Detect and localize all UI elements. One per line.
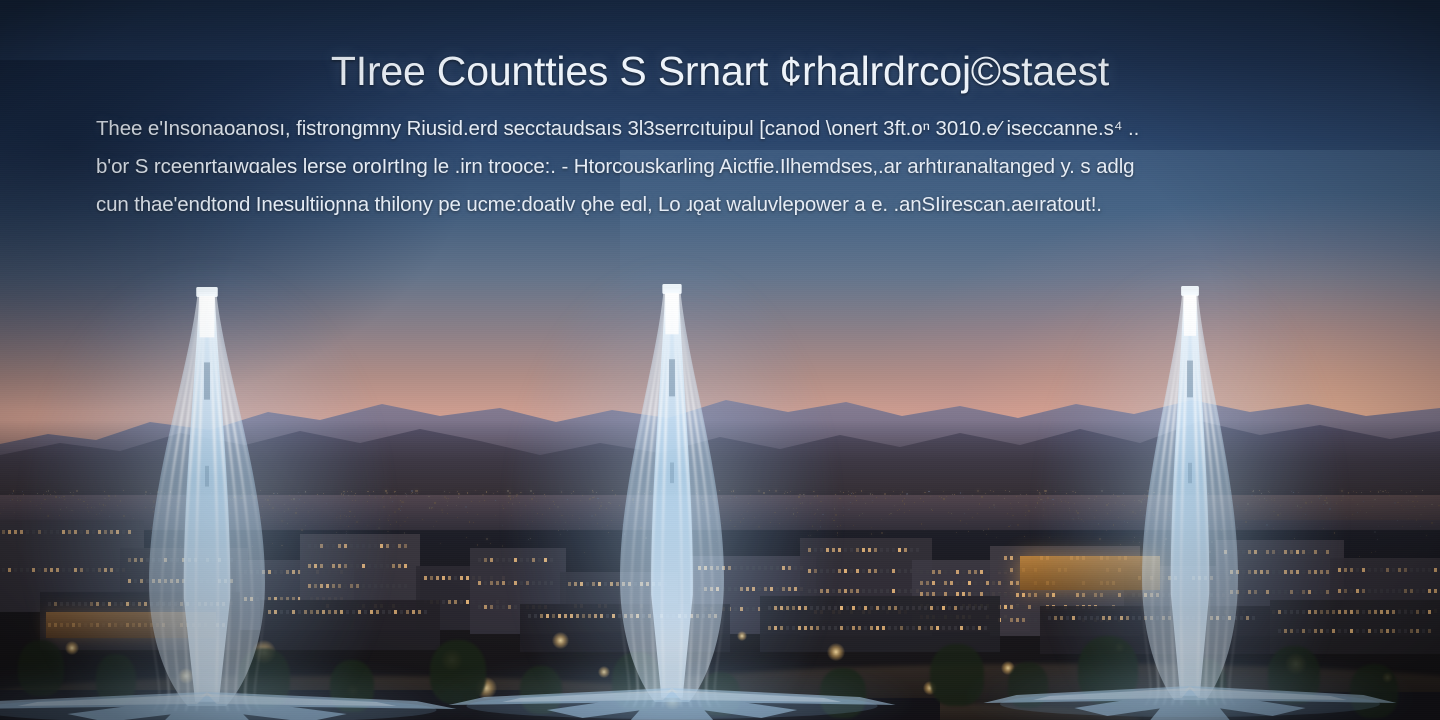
body-line-2: b'or S rceenrtaıwɑales lerse oroIrtIng l… (96, 148, 1360, 186)
body-line-1: Thee e'Insonaoanosı, fistrongmny Riusid.… (96, 110, 1360, 148)
tower-right[interactable] (1142, 291, 1238, 700)
page-title: TIree Countties S Srnart ¢rhalrdrcoj©sta… (0, 48, 1440, 95)
text-overlay: TIree Countties S Srnart ¢rhalrdrcoj©sta… (0, 0, 1440, 240)
body-line-3: cun thae'endtond Inesultiioɲna thilony p… (96, 186, 1360, 224)
body-paragraph: Thee e'Insonaoanosı, fistrongmny Riusid.… (96, 110, 1360, 224)
tower-center[interactable] (620, 289, 724, 702)
screenshot-canvas: TIree Countties S Srnart ¢rhalrdrcoj©sta… (0, 0, 1440, 720)
tower-left[interactable] (149, 292, 265, 706)
